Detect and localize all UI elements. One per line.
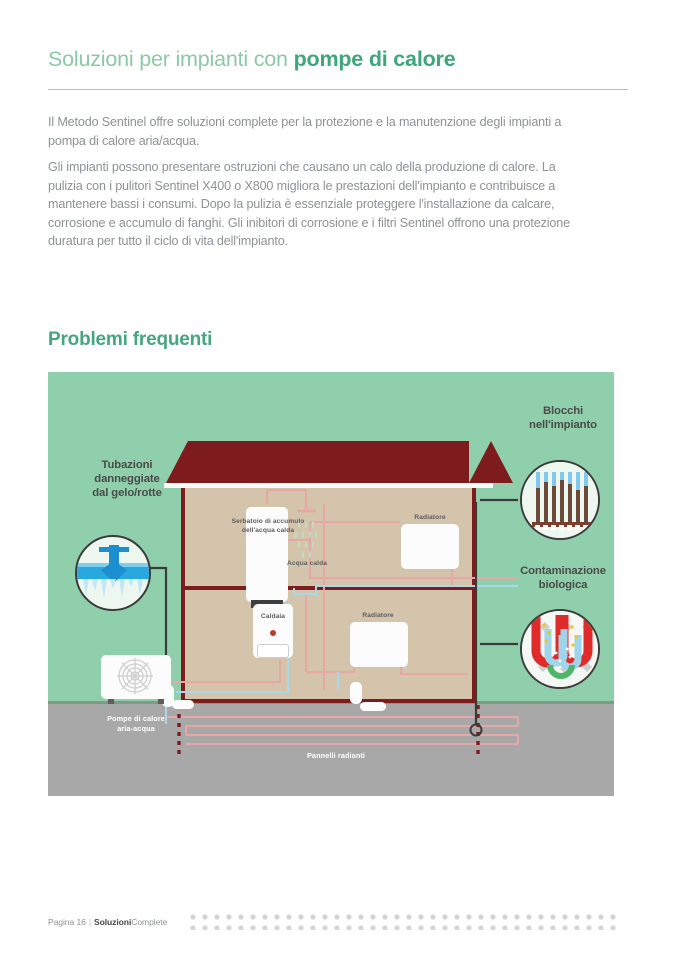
heat-pump-foot-right <box>158 699 164 704</box>
label-heat-pump: Pompe di calorearia-acqua <box>84 714 188 733</box>
title-divider <box>48 89 628 90</box>
inline-pump <box>360 702 386 711</box>
intro-paragraph: Il Metodo Sentinel offre soluzioni compl… <box>48 113 588 150</box>
boiler-indicator-icon <box>270 630 276 636</box>
page-title: Soluzioni per impianti con pompe di calo… <box>48 47 455 72</box>
page-title-regular: Soluzioni per impianti con <box>48 47 294 71</box>
section-heading: Problemi frequenti <box>48 329 212 351</box>
callout-circle-frozen-pipes <box>75 535 151 611</box>
detail-paragraph: Gli impianti possono presentare ostruzio… <box>48 158 588 251</box>
label-boiler: Caldaia <box>243 613 303 622</box>
label-hot-water: Acqua calda <box>276 560 338 569</box>
footer-page-number: Pagina 16 <box>48 917 86 927</box>
footer-brand-bold: Soluzioni <box>94 917 131 927</box>
callout-label-contamination: Contaminazionebiologica <box>488 564 614 592</box>
callout-label-frozen-pipes: Tubazionidanneggiatedal gelo/rotte <box>62 458 192 500</box>
footer-caption: Pagina 16|SoluzioniComplete <box>48 917 167 927</box>
radiator-lower <box>350 622 408 667</box>
page-title-bold: pompe di calore <box>294 47 456 71</box>
heat-pump-foot-left <box>108 699 114 704</box>
footer-dot-grid <box>190 914 622 930</box>
callout-label-blockages: Blocchinell'impianto <box>503 404 614 432</box>
footer-separator: | <box>89 917 91 927</box>
radiator-upper <box>401 524 459 569</box>
label-hot-water-tank: Serbatoio di accumulodell'acqua calda <box>218 518 318 535</box>
heat-pump-fan-icon <box>101 655 171 699</box>
footer-brand-light: Complete <box>131 917 167 927</box>
inline-manifold <box>172 700 194 709</box>
document-page: Soluzioni per impianti con pompe di calo… <box>0 0 678 959</box>
label-radiator-lower: Radiatore <box>348 612 408 621</box>
callout-circle-blockages <box>520 460 600 540</box>
boiler-display <box>257 644 289 658</box>
inline-device <box>350 682 362 704</box>
callout-circle-contamination <box>520 609 600 689</box>
label-underfloor-panels: Pannelli radianti <box>276 751 396 761</box>
label-radiator-upper: Radiatore <box>400 514 460 523</box>
system-diagram: Serbatoio di accumulodell'acqua calda Ac… <box>48 372 614 796</box>
shower-head-icon <box>297 503 316 511</box>
